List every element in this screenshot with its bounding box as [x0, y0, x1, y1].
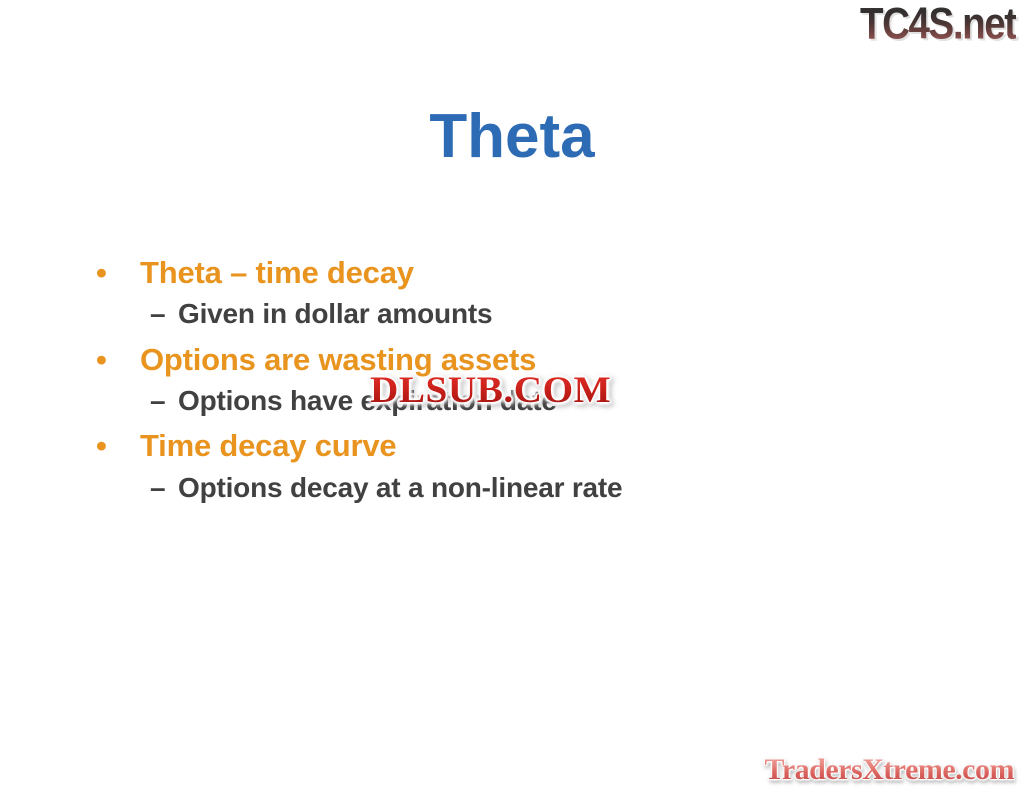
bullet-text: Options decay at a non-linear rate — [178, 469, 622, 507]
list-item: • Time decay curve — [96, 425, 956, 466]
bullet-text: Given in dollar amounts — [178, 295, 492, 333]
dlsub-watermark: DLSUB.COM — [370, 372, 611, 409]
bullet-dot-icon: • — [96, 344, 140, 375]
list-item: • Theta – time decay — [96, 252, 956, 293]
bullet-dash-icon: – — [150, 300, 178, 328]
bullet-text: Theta – time decay — [140, 252, 414, 293]
bullet-dot-icon: • — [96, 430, 140, 461]
bullet-dot-icon: • — [96, 257, 140, 288]
bullet-text: Time decay curve — [140, 425, 396, 466]
list-item: – Options decay at a non-linear rate — [96, 469, 956, 507]
bullet-dash-icon: – — [150, 387, 178, 415]
tc4s-brand-logo: TC4S.net — [860, 2, 1016, 46]
bullet-dash-icon: – — [150, 474, 178, 502]
list-item: – Given in dollar amounts — [96, 295, 956, 333]
slide-canvas: TC4S.net TC4S.net Theta • Theta – time d… — [0, 0, 1024, 791]
page-title: Theta — [0, 104, 1024, 169]
tradersxtreme-footer-logo: TradersXtreme.com — [765, 755, 1014, 785]
